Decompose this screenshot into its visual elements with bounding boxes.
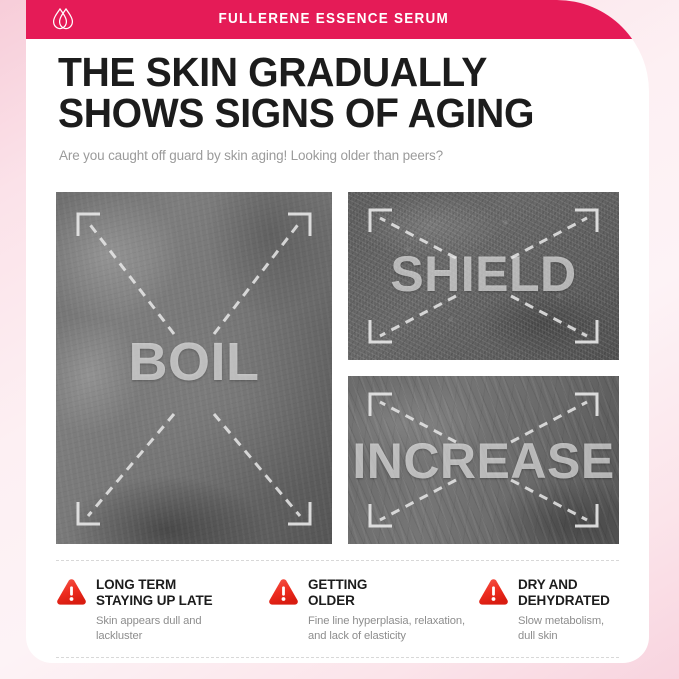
list-item: GETTING OLDER Fine line hyperplasia, rel… [268,576,478,657]
warning-triangle-icon [268,577,299,606]
header-title: FULLERENE ESSENCE SERUM [48,0,627,39]
warning-description: Fine line hyperplasia, relaxation, and l… [308,614,465,643]
warning-description: Skin appears dull and lackluster [96,614,213,643]
subtitle: Are you caught off guard by skin aging! … [59,148,443,163]
warning-list: LONG TERM STAYING UP LATE Skin appears d… [56,560,619,658]
poster-card: FULLERENE ESSENCE SERUM THE SKIN GRADUAL… [26,0,649,663]
image-panel-boil: BOIL [56,192,332,544]
panel-label-boil: BOIL [56,331,332,393]
panel-label-increase: INCREASE [348,432,619,490]
headline-line-1: THE SKIN GRADUALLY [58,52,593,93]
header-band: FULLERENE ESSENCE SERUM [26,0,649,39]
warning-triangle-icon [56,577,87,606]
warning-title: GETTING OLDER [308,577,465,608]
page-title: THE SKIN GRADUALLY SHOWS SIGNS OF AGING [58,52,593,133]
warning-triangle-icon [478,577,509,606]
image-panel-increase: INCREASE [348,376,619,544]
warning-title: LONG TERM STAYING UP LATE [96,577,213,608]
warning-description: Slow metabolism, dull skin [518,614,610,643]
warning-title: DRY AND DEHYDRATED [518,577,610,608]
list-item: LONG TERM STAYING UP LATE Skin appears d… [56,576,268,657]
list-item: DRY AND DEHYDRATED Slow metabolism, dull… [478,576,619,657]
image-panel-shield: SHIELD [348,192,619,360]
headline-line-2: SHOWS SIGNS OF AGING [58,93,593,134]
panel-label-shield: SHIELD [348,245,619,303]
